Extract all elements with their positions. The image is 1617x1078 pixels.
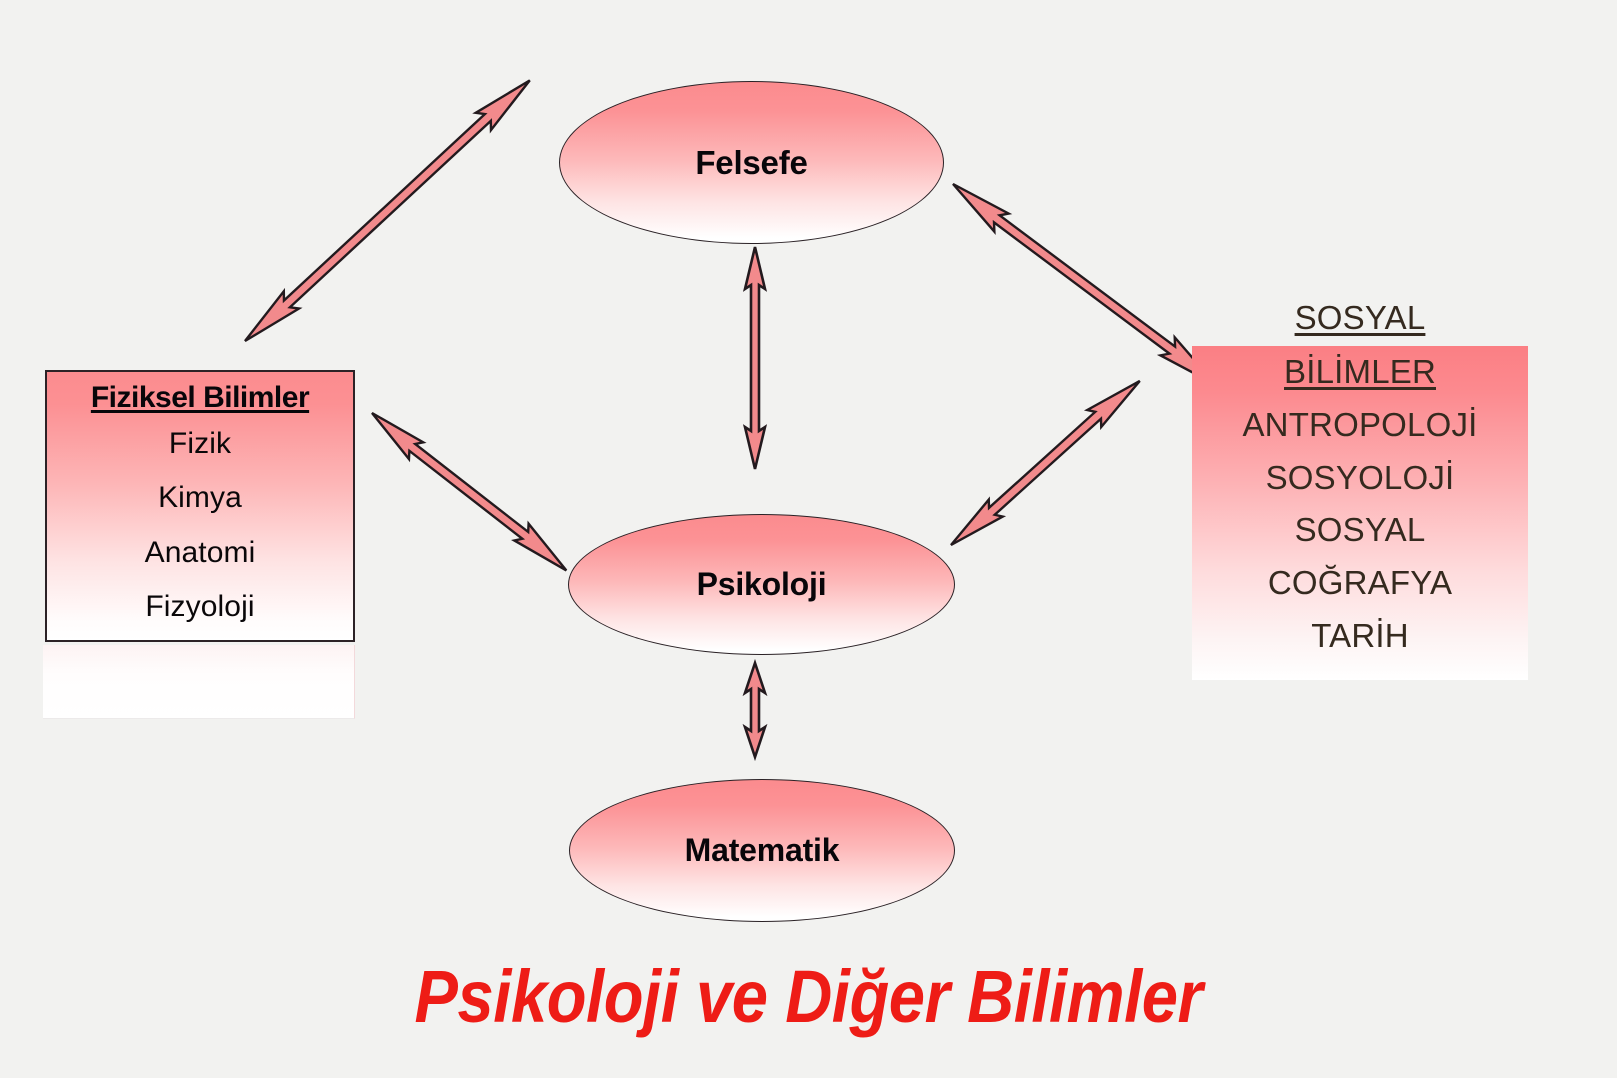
social-sciences-item-sosyoloji: SOSYOLOJİ [1192, 452, 1528, 505]
node-matematik[interactable]: Matematik [569, 779, 955, 922]
physical-sciences-box-footer [43, 645, 355, 719]
social-sciences-item-cografya: COĞRAFYA [1192, 557, 1528, 610]
node-felsefe[interactable]: Felsefe [559, 81, 944, 244]
social-sciences-heading-line1: SOSYAL [1192, 299, 1528, 337]
social-sciences-box[interactable]: BİLİMLER ANTROPOLOJİ SOSYOLOJİ SOSYAL CO… [1192, 346, 1528, 680]
social-sciences-item-sosyal: SOSYAL [1192, 504, 1528, 557]
physical-sciences-heading: Fiziksel Bilimler [47, 379, 353, 417]
physical-sciences-item-kimya: Kimya [47, 471, 353, 526]
arrow-psikoloji-sosyal [940, 372, 1151, 553]
physical-sciences-item-anatomi: Anatomi [47, 526, 353, 581]
social-sciences-heading-line2: BİLİMLER [1192, 346, 1528, 399]
slide-caption: Psikoloji ve Diğer Bilimler [97, 954, 1520, 1039]
node-psikoloji[interactable]: Psikoloji [568, 514, 955, 655]
arrow-felsefe-psikoloji [745, 247, 765, 469]
node-psikoloji-label: Psikoloji [697, 566, 827, 603]
physical-sciences-item-fizyoloji: Fizyoloji [47, 580, 353, 635]
social-sciences-item-antropoloji: ANTROPOLOJİ [1192, 399, 1528, 452]
physical-sciences-item-fizik: Fizik [47, 417, 353, 472]
node-matematik-label: Matematik [685, 832, 840, 869]
node-felsefe-label: Felsefe [695, 144, 807, 182]
physical-sciences-box[interactable]: Fiziksel Bilimler Fizik Kimya Anatomi Fi… [45, 370, 355, 642]
slide-canvas: Felsefe Psikoloji Matematik Fiziksel Bil… [0, 0, 1617, 1078]
arrow-fiziksel-psikoloji [365, 400, 574, 584]
arrow-felsefe-fiziksel [233, 72, 542, 350]
arrow-psikoloji-matematik [745, 663, 765, 757]
arrow-felsefe-sosyal [946, 170, 1223, 399]
social-sciences-item-tarih: TARİH [1192, 610, 1528, 663]
